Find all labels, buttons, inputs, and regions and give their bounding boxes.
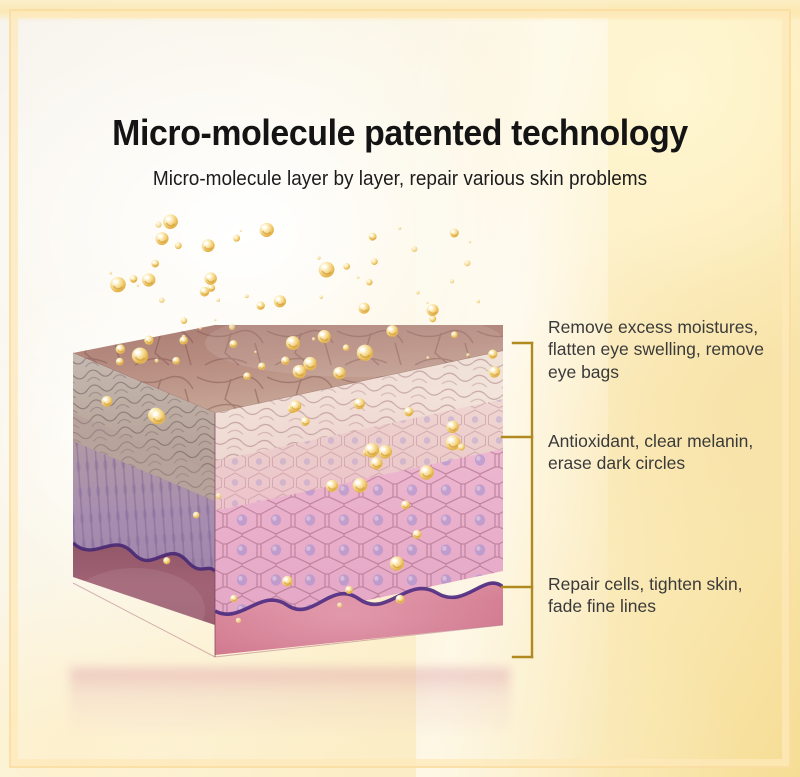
skin-cross-section-diagram xyxy=(55,325,515,685)
promo-banner: Micro-molecule patented technology Micro… xyxy=(0,0,800,777)
callout-bracket xyxy=(495,330,550,670)
annotation-repair-cells: Repair cells, tighten skin, fade fine li… xyxy=(548,573,798,618)
page-subtitle: Micro-molecule layer by layer, repair va… xyxy=(20,168,780,191)
page-title: Micro-molecule patented technology xyxy=(24,112,776,154)
annotation-moisture-eye-bags: Remove excess moistures, flatten eye swe… xyxy=(548,316,798,383)
skin-block-svg xyxy=(55,325,515,685)
annotation-antioxidant-melanin: Antioxidant, clear melanin, erase dark c… xyxy=(548,430,798,475)
